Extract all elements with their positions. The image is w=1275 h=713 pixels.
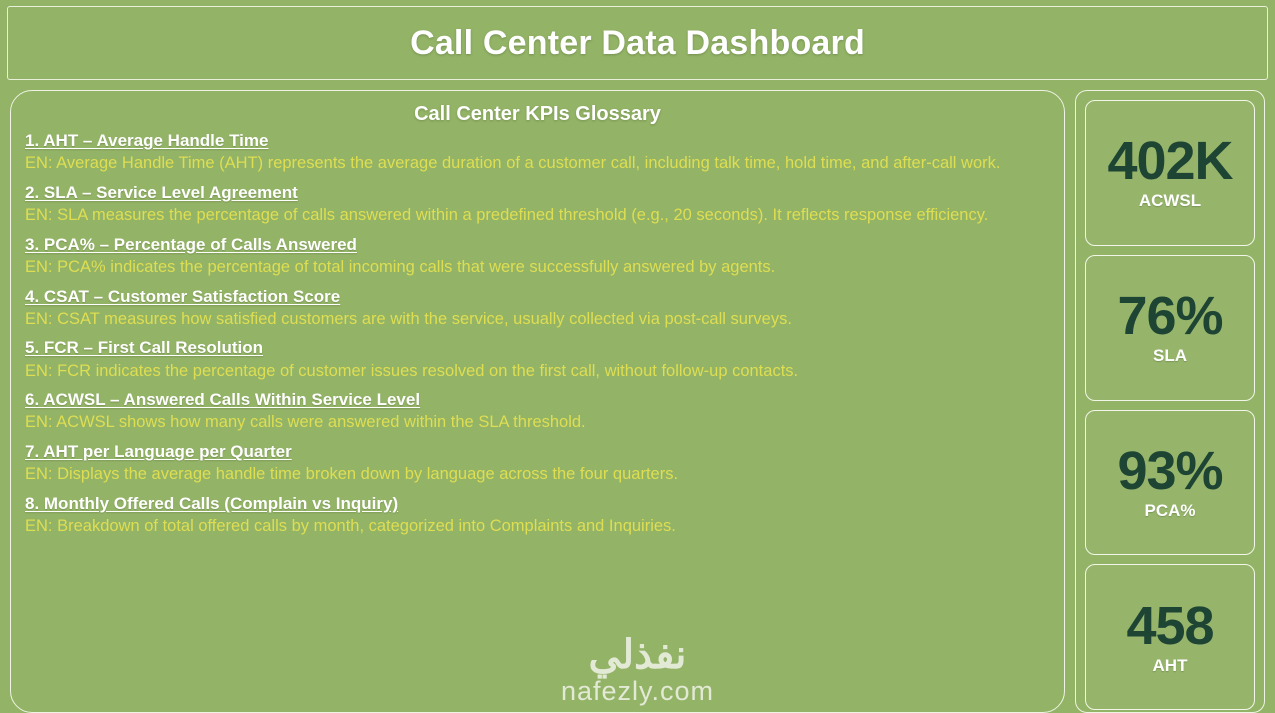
glossary-entry-description: EN: SLA measures the percentage of calls…: [25, 205, 1045, 227]
dashboard-body: Call Center KPIs Glossary 1. AHT – Avera…: [4, 80, 1271, 713]
glossary-entry: 7. AHT per Language per QuarterEN: Displ…: [25, 441, 1050, 486]
kpi-label: PCA%: [1144, 501, 1195, 521]
glossary-entry: 3. PCA% – Percentage of Calls AnsweredEN…: [25, 234, 1050, 279]
glossary-entry: 8. Monthly Offered Calls (Complain vs In…: [25, 493, 1050, 538]
glossary-entry-term: 8. Monthly Offered Calls (Complain vs In…: [25, 493, 1050, 515]
glossary-panel: Call Center KPIs Glossary 1. AHT – Avera…: [10, 90, 1065, 713]
glossary-list: 1. AHT – Average Handle TimeEN: Average …: [25, 130, 1050, 538]
glossary-entry-description: EN: FCR indicates the percentage of cust…: [25, 361, 1045, 383]
glossary-title: Call Center KPIs Glossary: [25, 103, 1050, 126]
glossary-entry-term: 4. CSAT – Customer Satisfaction Score: [25, 286, 1050, 308]
glossary-entry-term: 7. AHT per Language per Quarter: [25, 441, 1050, 463]
glossary-entry-description: EN: PCA% indicates the percentage of tot…: [25, 257, 1045, 279]
glossary-entry: 6. ACWSL – Answered Calls Within Service…: [25, 389, 1050, 434]
kpi-value: 93%: [1117, 444, 1222, 499]
glossary-entry-term: 6. ACWSL – Answered Calls Within Service…: [25, 389, 1050, 411]
dashboard-header: Call Center Data Dashboard: [7, 6, 1268, 80]
glossary-entry-term: 2. SLA – Service Level Agreement: [25, 182, 1050, 204]
kpi-value: 402K: [1107, 134, 1232, 189]
kpi-label: ACWSL: [1139, 191, 1201, 211]
kpi-value: 76%: [1117, 289, 1222, 344]
kpi-tile-sla[interactable]: 76%SLA: [1085, 255, 1255, 401]
glossary-entry-description: EN: Displays the average handle time bro…: [25, 464, 1045, 486]
glossary-entry-description: EN: Breakdown of total offered calls by …: [25, 516, 1045, 538]
glossary-entry: 4. CSAT – Customer Satisfaction ScoreEN:…: [25, 286, 1050, 331]
kpi-rail: 402KACWSL76%SLA93%PCA%458AHT: [1075, 90, 1265, 713]
glossary-entry-term: 1. AHT – Average Handle Time: [25, 130, 1050, 152]
kpi-value: 458: [1126, 599, 1213, 654]
glossary-entry-description: EN: ACWSL shows how many calls were answ…: [25, 412, 1045, 434]
glossary-entry-term: 5. FCR – First Call Resolution: [25, 337, 1050, 359]
kpi-tile-pca[interactable]: 93%PCA%: [1085, 410, 1255, 556]
kpi-tile-aht[interactable]: 458AHT: [1085, 564, 1255, 710]
kpi-label: SLA: [1153, 346, 1187, 366]
glossary-entry: 2. SLA – Service Level AgreementEN: SLA …: [25, 182, 1050, 227]
glossary-entry: 1. AHT – Average Handle TimeEN: Average …: [25, 130, 1050, 175]
kpi-tile-acwsl[interactable]: 402KACWSL: [1085, 100, 1255, 246]
glossary-entry-description: EN: Average Handle Time (AHT) represents…: [25, 153, 1045, 175]
glossary-entry-description: EN: CSAT measures how satisfied customer…: [25, 309, 1045, 331]
glossary-entry: 5. FCR – First Call ResolutionEN: FCR in…: [25, 337, 1050, 382]
dashboard-root: Call Center Data Dashboard Call Center K…: [0, 0, 1275, 713]
page-title: Call Center Data Dashboard: [410, 24, 865, 63]
kpi-label: AHT: [1153, 656, 1188, 676]
glossary-entry-term: 3. PCA% – Percentage of Calls Answered: [25, 234, 1050, 256]
